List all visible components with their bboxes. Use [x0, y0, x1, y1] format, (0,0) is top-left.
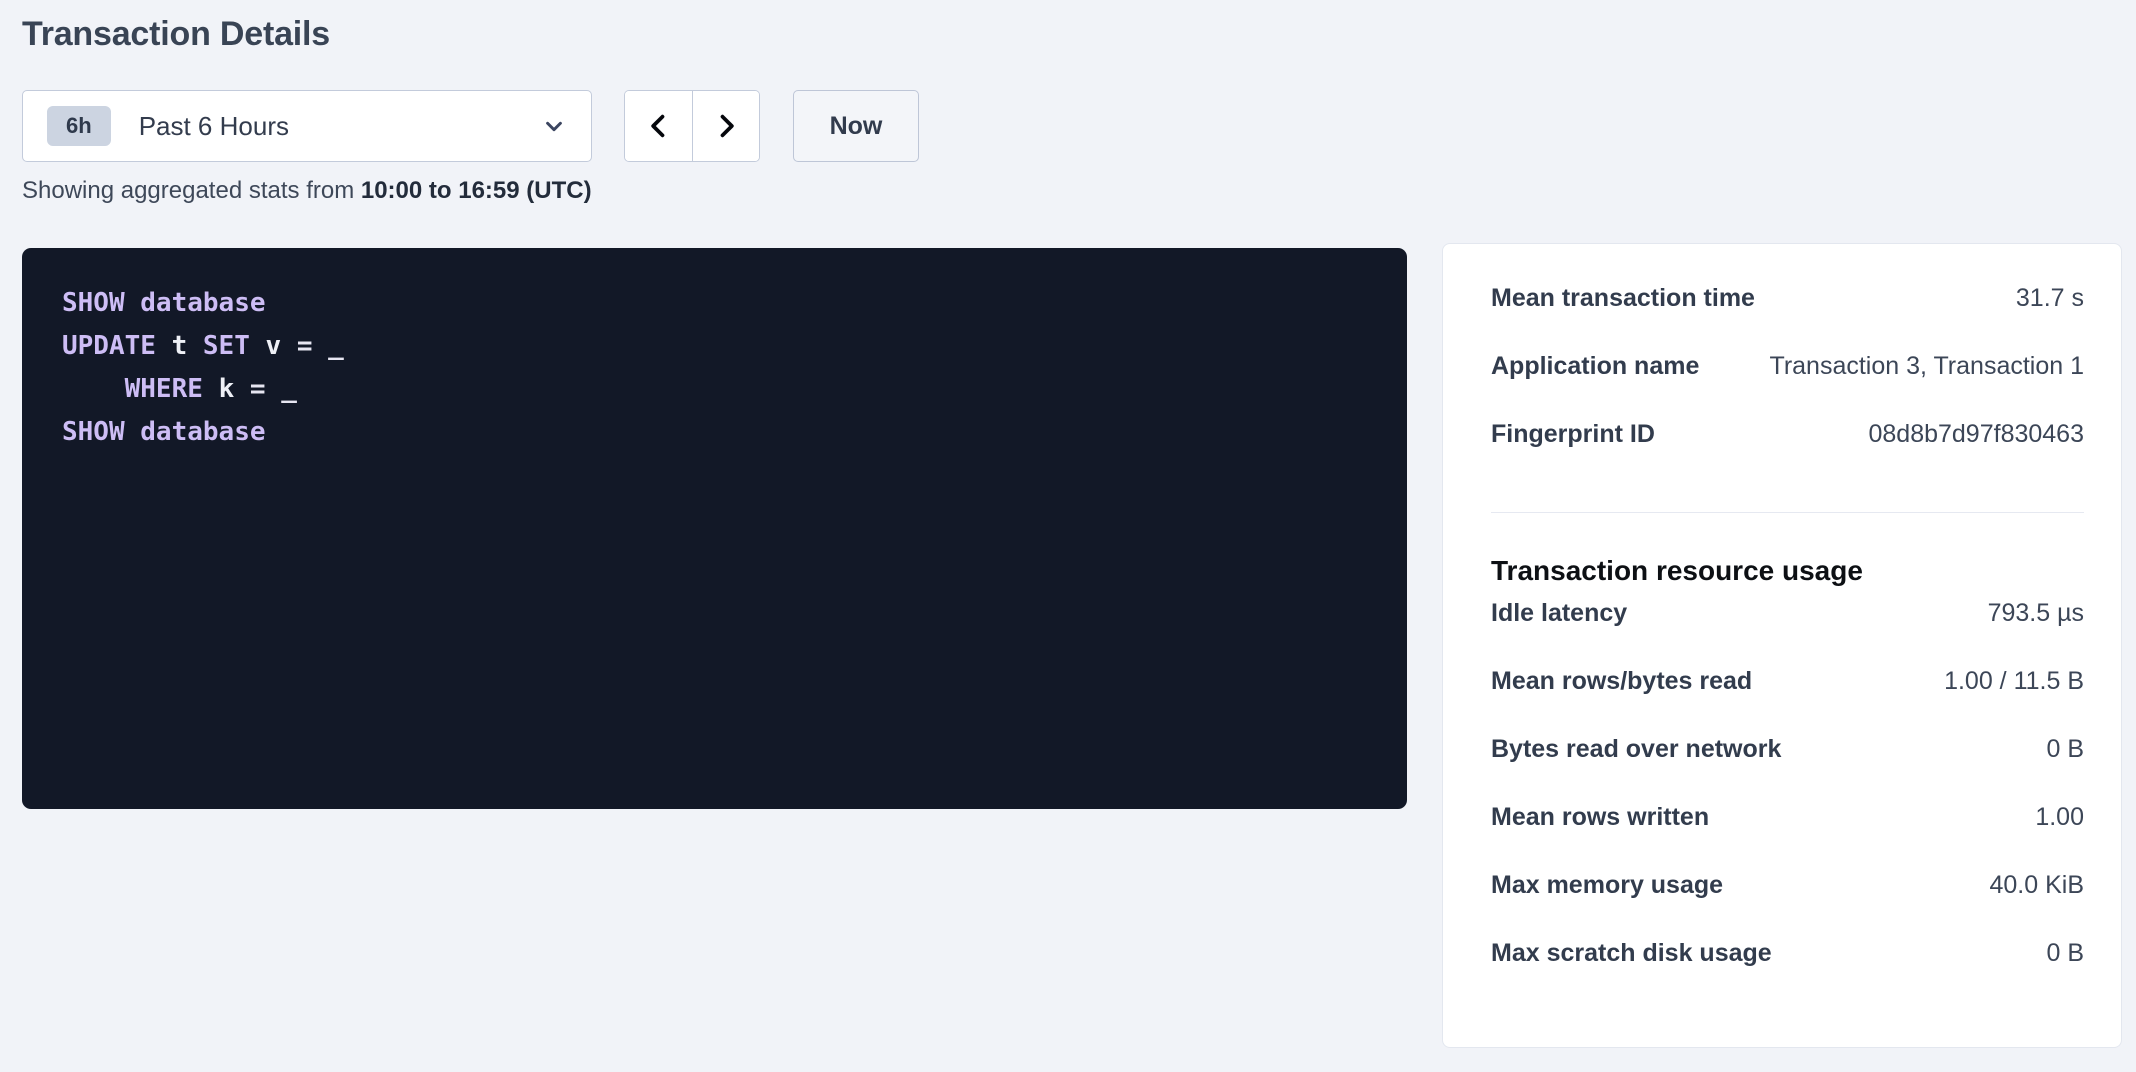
sql-token-kw: database: [140, 417, 265, 447]
stat-label: Mean rows written: [1491, 803, 1709, 832]
sql-token-sp: [266, 374, 282, 404]
section-divider: [1491, 512, 2084, 513]
time-range-toolbar: 6h Past 6 Hours: [22, 90, 919, 162]
overview-stat-row: Application nameTransaction 3, Transacti…: [1491, 352, 2084, 420]
time-nav-group: [624, 90, 760, 162]
chevron-left-icon: [645, 112, 673, 140]
stat-value: Transaction 3, Transaction 1: [1769, 352, 2084, 381]
sql-token-ph: _: [281, 374, 297, 404]
stat-value: 08d8b7d97f830463: [1868, 420, 2084, 449]
sql-token-sp: [156, 331, 172, 361]
aggregation-range-value: 10:00 to 16:59 (UTC): [361, 177, 592, 204]
sql-code-line: UPDATE t SET v = _: [62, 325, 1367, 368]
sql-code-line: SHOW database: [62, 411, 1367, 454]
overview-stats-list: Mean transaction time31.7 sApplication n…: [1491, 284, 2084, 488]
stat-value: 31.7 s: [2016, 284, 2084, 313]
stat-label: Application name: [1491, 352, 1699, 381]
stat-value: 0 B: [2046, 735, 2084, 764]
sql-token-sp: [234, 374, 250, 404]
stat-label: Mean transaction time: [1491, 284, 1755, 313]
resource-usage-row: Max scratch disk usage0 B: [1491, 939, 2084, 1007]
stat-value: 0 B: [2046, 939, 2084, 968]
stat-label: Max memory usage: [1491, 871, 1723, 900]
resource-usage-row: Max memory usage40.0 KiB: [1491, 871, 2084, 939]
next-period-button[interactable]: [692, 91, 759, 161]
sql-token-op: =: [250, 374, 266, 404]
aggregation-range-text: Showing aggregated stats from 10:00 to 1…: [22, 177, 592, 205]
stat-label: Fingerprint ID: [1491, 420, 1655, 449]
sql-token-sp: [62, 374, 125, 404]
sql-token-kw: SHOW: [62, 288, 125, 318]
time-range-badge: 6h: [47, 106, 111, 146]
sql-token-op: =: [297, 331, 313, 361]
sql-token-sp: [187, 331, 203, 361]
stat-value: 1.00 / 11.5 B: [1944, 667, 2084, 696]
sql-token-kw: database: [140, 288, 265, 318]
transaction-details-page: Transaction Details 6h Past 6 Hours: [0, 0, 2136, 1072]
stat-label: Mean rows/bytes read: [1491, 667, 1752, 696]
resource-usage-list: Idle latency793.5 µsMean rows/bytes read…: [1491, 599, 2084, 1007]
chevron-right-icon: [712, 112, 740, 140]
previous-period-button[interactable]: [625, 91, 692, 161]
stat-value: 40.0 KiB: [1989, 871, 2084, 900]
chevron-down-icon: [543, 115, 565, 137]
stat-label: Max scratch disk usage: [1491, 939, 1772, 968]
sql-token-sp: [250, 331, 266, 361]
aggregation-range-prefix: Showing aggregated stats from: [22, 177, 361, 204]
sql-token-sp: [125, 417, 141, 447]
stat-label: Idle latency: [1491, 599, 1627, 628]
stat-value: 1.00: [2035, 803, 2084, 832]
resource-usage-row: Mean rows written1.00: [1491, 803, 2084, 871]
overview-stat-row: Fingerprint ID08d8b7d97f830463: [1491, 420, 2084, 488]
sql-code-line: WHERE k = _: [62, 368, 1367, 411]
sql-token-kw: WHERE: [125, 374, 203, 404]
now-button[interactable]: Now: [793, 90, 919, 162]
sql-token-sp: [281, 331, 297, 361]
sql-token-sp: [312, 331, 328, 361]
resource-usage-row: Bytes read over network0 B: [1491, 735, 2084, 803]
resource-usage-heading: Transaction resource usage: [1491, 555, 2084, 587]
stat-label: Bytes read over network: [1491, 735, 1781, 764]
sql-token-id: k: [219, 374, 235, 404]
overview-stat-row: Mean transaction time31.7 s: [1491, 284, 2084, 352]
sql-statement-block[interactable]: SHOW databaseUPDATE t SET v = _ WHERE k …: [22, 248, 1407, 809]
sql-token-id: t: [172, 331, 188, 361]
resource-usage-row: Mean rows/bytes read1.00 / 11.5 B: [1491, 667, 2084, 735]
transaction-stats-card: Mean transaction time31.7 sApplication n…: [1442, 243, 2122, 1048]
resource-usage-row: Idle latency793.5 µs: [1491, 599, 2084, 667]
sql-token-id: v: [266, 331, 282, 361]
sql-code-lines: SHOW databaseUPDATE t SET v = _ WHERE k …: [62, 282, 1367, 454]
time-range-label: Past 6 Hours: [139, 111, 543, 142]
sql-token-sp: [203, 374, 219, 404]
sql-token-sp: [125, 288, 141, 318]
stat-value: 793.5 µs: [1988, 599, 2084, 628]
sql-token-kw: SET: [203, 331, 250, 361]
page-title: Transaction Details: [22, 15, 330, 54]
time-range-select[interactable]: 6h Past 6 Hours: [22, 90, 592, 162]
sql-token-ph: _: [328, 331, 344, 361]
sql-token-kw: SHOW: [62, 417, 125, 447]
sql-code-line: SHOW database: [62, 282, 1367, 325]
sql-token-kw: UPDATE: [62, 331, 156, 361]
